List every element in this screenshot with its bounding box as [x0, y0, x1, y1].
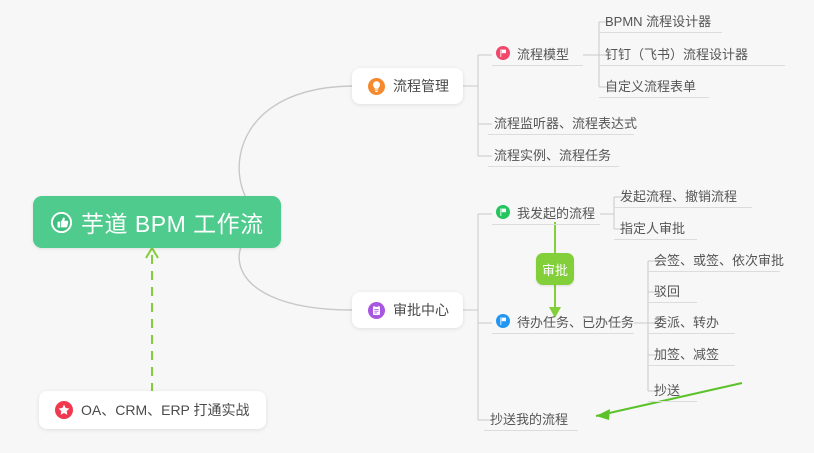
- root-label: 芋道 BPM 工作流: [81, 205, 264, 239]
- leaf-label: 发起流程、撤销流程: [620, 186, 737, 205]
- leaf-label: 驳回: [654, 281, 680, 300]
- thumbs-up-icon: [51, 212, 72, 233]
- topic-label-my-initiated: 我发起的流程: [517, 203, 595, 222]
- topic-label-todo-done-tasks: 待办任务、已办任务: [517, 312, 634, 331]
- leaf-node-reject[interactable]: 驳回: [648, 281, 697, 303]
- leaf-label: 指定人审批: [620, 218, 685, 237]
- branch-label-approval-center: 审批中心: [393, 300, 449, 320]
- leaf-node-delegate-transfer[interactable]: 委派、转办: [648, 312, 735, 334]
- leaf-label: 自定义流程表单: [605, 76, 696, 95]
- root-node[interactable]: 芋道 BPM 工作流: [33, 196, 281, 248]
- topic-node-todo-done-tasks[interactable]: 待办任务、已办任务: [492, 312, 634, 334]
- leaf-node-cc[interactable]: 抄送: [648, 380, 697, 402]
- leaf-node-start-cancel-process[interactable]: 发起流程、撤销流程: [614, 186, 752, 208]
- flag-icon: [496, 205, 510, 219]
- topic-label-process-model: 流程模型: [517, 44, 569, 63]
- branch-label-process-management: 流程管理: [393, 76, 449, 96]
- leaf-label: 委派、转办: [654, 312, 719, 331]
- leaf-node-bpmn-designer[interactable]: BPMN 流程设计器: [599, 11, 722, 33]
- approval-annotation-badge: 审批: [536, 253, 574, 285]
- leaf-node-add-remove-sign[interactable]: 加签、减签: [648, 344, 735, 366]
- leaf-node-dingtalk-designer[interactable]: 钉钉（飞书）流程设计器: [599, 44, 785, 66]
- branch-node-approval-center[interactable]: 审批中心: [352, 292, 463, 328]
- topic-node-cc-to-me[interactable]: 抄送我的流程: [484, 409, 578, 431]
- clipboard-icon: [368, 302, 385, 319]
- leaf-node-countersign[interactable]: 会签、或签、依次审批: [648, 250, 780, 272]
- leaf-node-custom-form[interactable]: 自定义流程表单: [599, 76, 709, 98]
- topic-node-process-instance[interactable]: 流程实例、流程任务: [488, 145, 619, 167]
- leaf-node-assignee-approval[interactable]: 指定人审批: [614, 218, 697, 240]
- leaf-label: 钉钉（飞书）流程设计器: [605, 44, 748, 63]
- integration-node[interactable]: OA、CRM、ERP 打通实战: [39, 391, 266, 429]
- branch-node-process-management[interactable]: 流程管理: [352, 68, 463, 104]
- topic-node-my-initiated[interactable]: 我发起的流程: [492, 203, 600, 225]
- flag-icon: [496, 46, 510, 60]
- leaf-label: 会签、或签、依次审批: [654, 250, 784, 269]
- topic-label-cc-to-me: 抄送我的流程: [490, 409, 568, 428]
- leaf-label: 加签、减签: [654, 344, 719, 363]
- topic-label-process-instance: 流程实例、流程任务: [494, 145, 611, 164]
- mindmap-canvas: 芋道 BPM 工作流 流程管理 流程模型 BPMN 流程设计器 钉钉（飞书）流程…: [0, 0, 814, 453]
- topic-node-process-model[interactable]: 流程模型: [492, 44, 583, 66]
- integration-node-label: OA、CRM、ERP 打通实战: [81, 400, 250, 420]
- leaf-label: BPMN 流程设计器: [605, 11, 711, 30]
- topic-node-process-listener[interactable]: 流程监听器、流程表达式: [488, 113, 634, 135]
- topic-label-process-listener: 流程监听器、流程表达式: [494, 113, 637, 132]
- star-icon: [55, 401, 73, 419]
- approval-annotation-label: 审批: [542, 260, 568, 279]
- flag-icon: [496, 314, 510, 328]
- lightbulb-icon: [368, 78, 385, 95]
- leaf-label: 抄送: [654, 380, 680, 399]
